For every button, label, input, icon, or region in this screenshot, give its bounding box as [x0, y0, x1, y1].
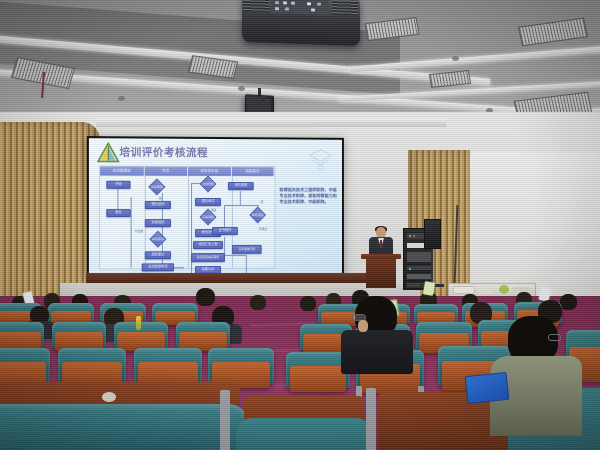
- edge-label: 否: [261, 200, 264, 204]
- auditorium-seat: [152, 303, 198, 323]
- flow-node: 理论培训: [145, 201, 171, 209]
- flow-node: 证书发放申请: [142, 263, 174, 271]
- flow-node: 理论考试: [195, 198, 221, 206]
- flow-node: 鉴定结果备案审核: [191, 253, 225, 262]
- flow-node: 证书发放归档: [232, 245, 262, 254]
- projection-screen: 培训评价考核流程 培训管理部 学员 考核评价组 技能鉴定: [87, 136, 344, 278]
- presenter-tie: [380, 240, 382, 248]
- stage-front-edge: [86, 273, 386, 283]
- auditorium-seat: [0, 322, 44, 348]
- hvac-vent: [429, 70, 471, 88]
- auditorium-seat: [176, 322, 230, 348]
- speaker-stand: [431, 249, 433, 285]
- ceiling-sprinkler: [452, 56, 459, 61]
- ceiling-sprinkler: [118, 96, 125, 101]
- presentation-slide: 培训评价考核流程 培训管理部 学员 考核评价组 技能鉴定: [89, 138, 342, 276]
- podium-body: [366, 259, 396, 288]
- eyeglasses: [548, 334, 561, 341]
- connector: [224, 255, 246, 256]
- edge-label: 不通过: [259, 227, 267, 231]
- connector: [224, 205, 258, 206]
- seat-frame: [366, 388, 376, 450]
- blue-folder: [465, 372, 510, 404]
- attendee-face: [358, 320, 368, 332]
- lane-header: 考核评价组: [188, 167, 231, 176]
- projector-vent-grill: [332, 0, 358, 16]
- flow-node: 成绩登记: [145, 251, 171, 259]
- lane-header: 学员: [144, 167, 188, 176]
- seat-frame: [220, 390, 230, 450]
- table-box: [453, 286, 475, 294]
- floor-speaker: [424, 219, 441, 249]
- slide-side-note: 取得相关技术工程师职称、中级专业技术职称，或有同等能力和专业技术职称、中级职称。: [279, 187, 338, 205]
- flow-node: 报名: [106, 209, 130, 217]
- auditorium-seat: [114, 322, 168, 348]
- auditorium-seat: [48, 303, 94, 323]
- lane-header: 技能鉴定: [231, 167, 274, 176]
- water-bottle: [136, 316, 141, 330]
- projector-top-panel: [242, 0, 360, 17]
- connector: [240, 191, 241, 205]
- lane-divider: [188, 176, 189, 268]
- flow-decision: [200, 175, 217, 192]
- seat-item: [102, 392, 116, 402]
- lecture-hall-photo: 培训评价考核流程 培训管理部 学员 考核评价组 技能鉴定: [0, 0, 600, 450]
- flow-node: 成绩汇总上报: [193, 241, 223, 249]
- wood-slat-wall-left: [0, 122, 100, 307]
- rack-unit: [406, 273, 432, 280]
- rack-unit: [406, 251, 432, 263]
- flow-node: 资料受理: [228, 182, 254, 190]
- flow-node: 证书制作: [212, 227, 238, 235]
- ceiling-projector: [242, 0, 360, 46]
- auditorium-seat: [0, 348, 50, 384]
- auditorium-seat: [208, 348, 274, 384]
- flowchart: 培训管理部 学员 考核评价组 技能鉴定: [99, 166, 275, 270]
- hvac-vent: [518, 18, 588, 47]
- foreground-seat-back: [0, 404, 250, 450]
- flow-decision: [249, 207, 266, 224]
- flow-decision: [149, 231, 166, 248]
- auditorium-seat: [134, 348, 202, 384]
- wall-ledge: [96, 118, 446, 127]
- company-watermark: [307, 148, 334, 172]
- lane-header: 培训管理部: [100, 167, 144, 176]
- triangle-logo: [97, 142, 119, 162]
- auditorium-seat: [414, 304, 458, 324]
- ceiling-pole: [41, 72, 45, 98]
- hvac-vent: [364, 17, 419, 41]
- right-wall-panel: [452, 152, 600, 302]
- flow-node: 实操培训: [145, 219, 171, 227]
- edge-label: 是: [159, 196, 162, 200]
- wooden-podium: [363, 254, 399, 288]
- projector-control-panel: [271, 0, 329, 15]
- auditorium-seat: [52, 322, 106, 348]
- connector: [131, 197, 132, 268]
- foreground-seat-back: [236, 418, 372, 450]
- projector-vent-grill: [243, 0, 269, 13]
- slide-title: 培训评价考核流程: [119, 144, 208, 160]
- table-box: [479, 287, 493, 294]
- table-item-green: [499, 285, 509, 294]
- ceiling-sprinkler: [238, 86, 245, 91]
- edge-label: 不合格: [135, 229, 144, 233]
- auditorium-seat: [58, 348, 126, 384]
- flow-node: 开始: [106, 181, 130, 189]
